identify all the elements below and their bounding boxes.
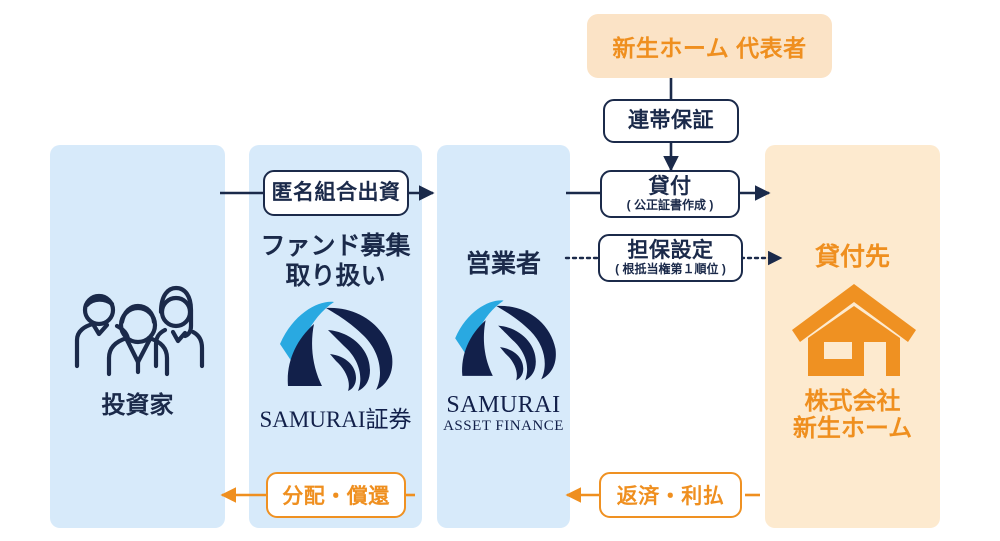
node-loan-sublabel: ( 公正証書作成 ) — [627, 199, 714, 212]
securities-wordmark: SAMURAI証券 — [249, 400, 422, 434]
samurai-wave-logo-icon — [272, 300, 397, 392]
node-loan-label: 貸付 — [649, 176, 692, 198]
node-distribution-label: 分配・償還 — [282, 480, 390, 510]
house-icon — [790, 280, 918, 380]
node-collateral: 担保設定 ( 根抵当権第１順位 ) — [598, 234, 743, 282]
node-collateral-label: 担保設定 — [628, 240, 714, 262]
node-distribution: 分配・償還 — [266, 472, 406, 518]
node-loan: 貸付 ( 公正証書作成 ) — [600, 170, 740, 218]
samurai-wave-logo-icon-2 — [448, 298, 560, 382]
node-collateral-sublabel: ( 根抵当権第１順位 ) — [615, 263, 726, 276]
three-people-icon — [65, 278, 210, 378]
label-borrower-role: 貸付先 — [765, 243, 940, 273]
label-borrower-name-line2: 新生ホーム — [765, 415, 940, 443]
asset-finance-wordmark-line2: ASSET FINANCE — [437, 418, 570, 435]
diagram-canvas: 新生ホーム 代表者 匿名組合出資 連帯保証 貸付 ( 公正証書作成 ) 担保設定… — [0, 0, 1000, 541]
asset-finance-wordmark-line1: SAMURAI — [437, 392, 570, 419]
node-anonymous-partnership: 匿名組合出資 — [263, 170, 409, 216]
label-borrower-name-line1: 株式会社 — [765, 388, 940, 416]
node-joint-guarantee: 連帯保証 — [603, 99, 739, 143]
label-operator: 営業者 — [437, 250, 570, 280]
node-anonymous-partnership-label: 匿名組合出資 — [272, 182, 401, 204]
label-investors: 投資家 — [50, 392, 225, 420]
top-guarantor-label: 新生ホーム 代表者 — [612, 29, 806, 63]
label-fund-offering-line2: 取り扱い — [249, 262, 422, 292]
node-joint-guarantee-label: 連帯保証 — [628, 110, 714, 132]
top-guarantor-box: 新生ホーム 代表者 — [587, 14, 832, 78]
node-repayment-label: 返済・利払 — [617, 480, 725, 510]
node-repayment: 返済・利払 — [599, 472, 742, 518]
label-fund-offering-line1: ファンド募集 — [249, 232, 422, 262]
